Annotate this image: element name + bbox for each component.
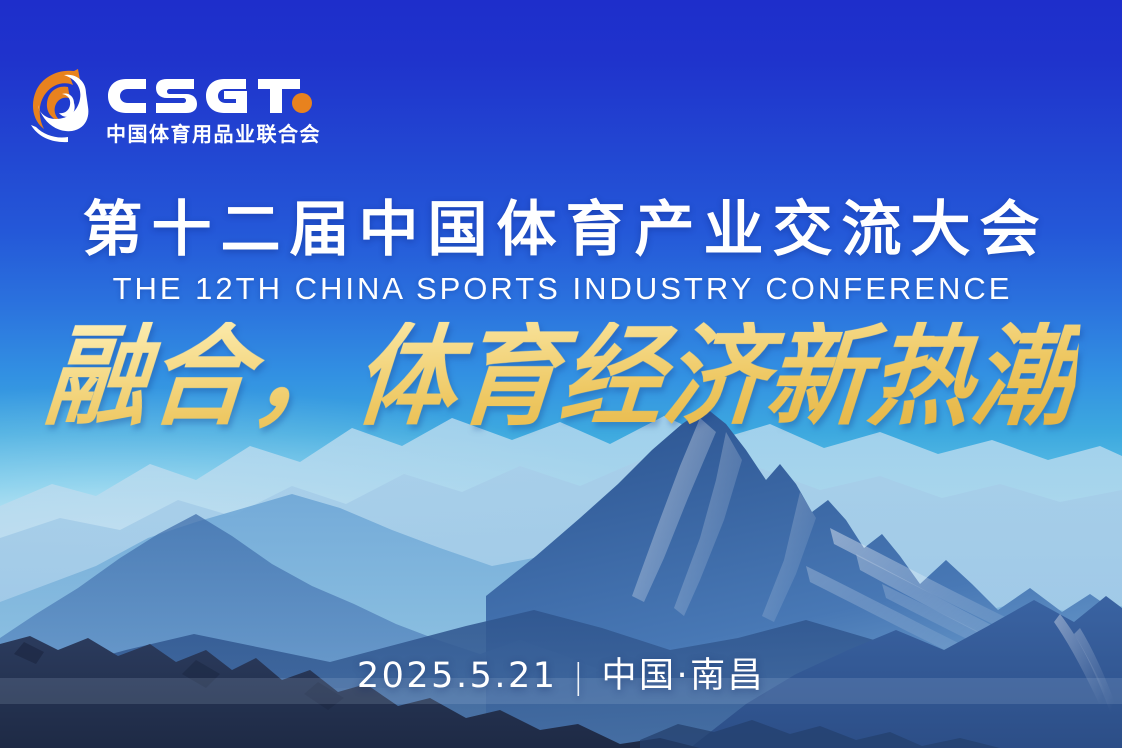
mountain-landscape	[0, 388, 1122, 748]
page-title-cn: 第十二届中国体育产业交流大会	[0, 196, 1122, 266]
conference-poster: 中国体育用品业联合会 第十二届中国体育产业交流大会 THE 12TH CHINA…	[0, 0, 1122, 748]
footer-separator: |	[573, 660, 587, 694]
date-location-line: 2025.5.21 | 中国·南昌	[357, 659, 765, 694]
csgf-logo: 中国体育用品业联合会	[28, 63, 322, 144]
csgf-swirl-icon	[28, 63, 96, 143]
slogan-calligraphy: 融合，体育经济新热潮	[41, 322, 1081, 432]
logo-accent-dot	[292, 93, 312, 113]
title-block: 第十二届中国体育产业交流大会 THE 12TH CHINA SPORTS IND…	[0, 196, 1122, 304]
event-date: 2025.5.21	[357, 659, 558, 694]
slogan-block: 融合，体育经济新热潮	[0, 326, 1122, 428]
footer-block: 2025.5.21 | 中国·南昌	[0, 659, 1122, 694]
event-location: 中国·南昌	[601, 659, 765, 694]
org-name-cn: 中国体育用品业联合会	[106, 124, 322, 144]
csgf-wordmark	[106, 65, 322, 121]
page-title-en: THE 12TH CHINA SPORTS INDUSTRY CONFERENC…	[0, 273, 1122, 304]
logo-text-group: 中国体育用品业联合会	[106, 63, 322, 144]
